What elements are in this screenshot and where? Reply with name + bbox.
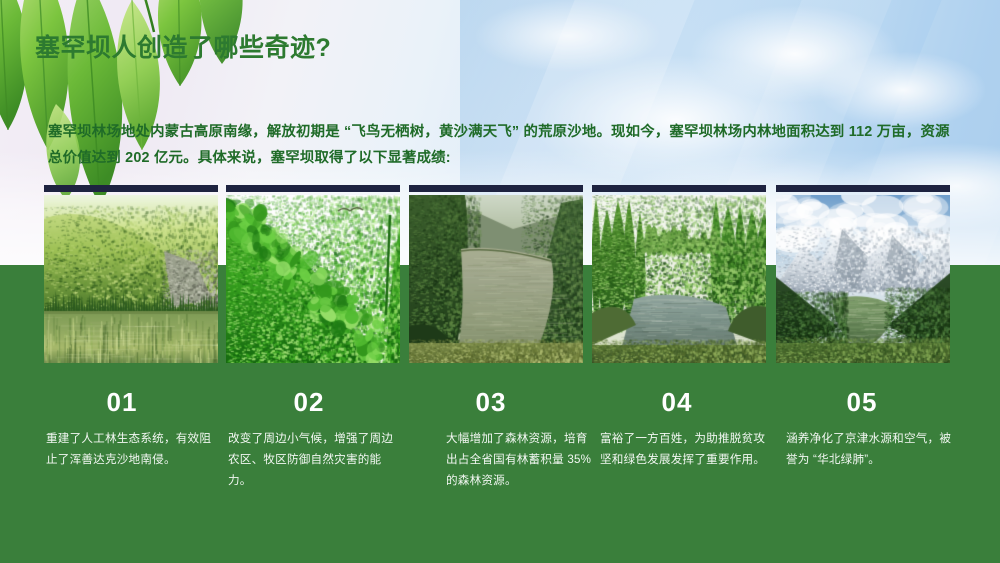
slide-canvas: 塞罕坝人创造了哪些奇迹? 塞罕坝林场地处内蒙古高原南缘，解放初期是 “飞鸟无栖树… bbox=[0, 0, 1000, 563]
forest-hillside-lake-reflection-photo bbox=[44, 195, 218, 363]
item-caption-02: 改变了周边小气候，增强了周边农区、牧区防御自然灾害的能力。 bbox=[228, 428, 400, 491]
page-title: 塞罕坝人创造了哪些奇迹? bbox=[35, 28, 331, 64]
riverside-poplar-trees-stream-photo bbox=[592, 195, 766, 363]
item-number-03: 03 bbox=[404, 387, 578, 418]
item-number-04: 04 bbox=[590, 387, 764, 418]
panel-top-bar bbox=[226, 185, 400, 192]
dense-green-forest-slope-photo bbox=[226, 195, 400, 363]
panel-05[interactable] bbox=[776, 185, 950, 363]
panel-02[interactable] bbox=[226, 185, 400, 363]
panel-03[interactable] bbox=[409, 185, 583, 363]
panel-top-bar bbox=[409, 185, 583, 192]
panel-top-bar bbox=[44, 185, 218, 192]
item-caption-05: 涵养净化了京津水源和空气，被誉为 “华北绿肺”。 bbox=[786, 428, 958, 470]
item-caption-03: 大幅增加了森林资源，培育出占全省国有林蓄积量 35% 的森林资源。 bbox=[446, 428, 598, 491]
snow-mountain-alpine-lake-photo bbox=[776, 195, 950, 363]
achievement-panels: 01 02 03 04 05 重建了人工林生态系统，有效阻止了浑善达克沙地南侵。… bbox=[0, 0, 1000, 563]
panel-top-bar bbox=[592, 185, 766, 192]
body-paragraph: 塞罕坝林场地处内蒙古高原南缘，解放初期是 “飞鸟无栖树，黄沙满天飞” 的荒原沙地… bbox=[48, 119, 953, 171]
item-number-01: 01 bbox=[35, 387, 209, 418]
item-number-05: 05 bbox=[775, 387, 949, 418]
item-caption-04: 富裕了一方百姓，为助推脱贫攻坚和绿色发展发挥了重要作用。 bbox=[600, 428, 772, 470]
panel-top-bar bbox=[776, 185, 950, 192]
item-number-02: 02 bbox=[222, 387, 396, 418]
mountain-reservoir-lake-photo bbox=[409, 195, 583, 363]
item-caption-01: 重建了人工林生态系统，有效阻止了浑善达克沙地南侵。 bbox=[46, 428, 218, 470]
panel-01[interactable] bbox=[44, 185, 218, 363]
panel-04[interactable] bbox=[592, 185, 766, 363]
